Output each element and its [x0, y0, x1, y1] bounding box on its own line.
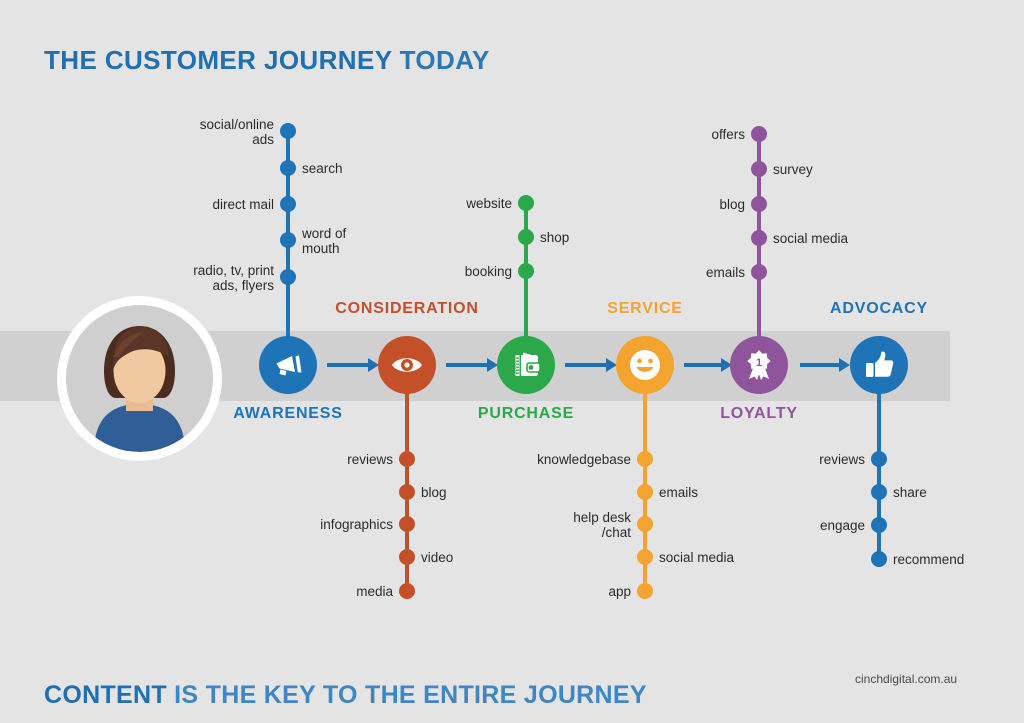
svg-text:1: 1: [756, 357, 762, 369]
wallet-icon: [510, 349, 542, 381]
touchpoint-label-service-2: help desk /chat: [573, 510, 631, 540]
touchpoint-label-service-1: emails: [659, 485, 698, 500]
touchpoint-label-advocacy-1: share: [893, 485, 927, 500]
smiley-icon: [628, 348, 662, 382]
arrow-consideration-purchase: [446, 358, 498, 372]
avatar-disc: [66, 305, 213, 452]
touchpoint-node-loyalty-3[interactable]: [751, 230, 767, 246]
touchpoint-label-loyalty-3: social media: [773, 231, 848, 246]
touchpoint-node-loyalty-0[interactable]: [751, 126, 767, 142]
page-title-rest: TODAY: [392, 45, 490, 75]
megaphone-icon: [271, 348, 305, 382]
arrow-shaft: [800, 363, 840, 367]
touchpoint-node-consideration-2[interactable]: [399, 516, 415, 532]
touchpoint-label-loyalty-1: survey: [773, 162, 813, 177]
stage-label-loyalty: LOYALTY: [720, 405, 798, 423]
arrow-shaft: [327, 363, 369, 367]
touchpoint-node-advocacy-2[interactable]: [871, 517, 887, 533]
avatar-illustration: [66, 305, 213, 452]
page-title: THE CUSTOMER JOURNEY TODAY: [44, 45, 490, 76]
footer-title-rest: IS THE KEY TO THE ENTIRE JOURNEY: [167, 681, 647, 709]
touchpoint-label-loyalty-2: blog: [719, 197, 745, 212]
stage-icon-circle-purchase[interactable]: [497, 336, 555, 394]
touchpoint-node-service-2[interactable]: [637, 516, 653, 532]
touchpoint-node-service-4[interactable]: [637, 583, 653, 599]
touchpoint-node-service-1[interactable]: [637, 484, 653, 500]
touchpoint-label-service-4: app: [608, 584, 631, 599]
touchpoint-label-loyalty-0: offers: [711, 127, 745, 142]
touchpoint-label-purchase-2: booking: [465, 264, 512, 279]
touchpoint-node-loyalty-1[interactable]: [751, 161, 767, 177]
touchpoint-node-advocacy-3[interactable]: [871, 551, 887, 567]
thumbs-up-icon: [862, 348, 896, 382]
touchpoint-label-awareness-0: social/online ads: [200, 117, 274, 147]
arrow-shaft: [684, 363, 722, 367]
touchpoint-node-advocacy-0[interactable]: [871, 451, 887, 467]
touchpoint-node-service-0[interactable]: [637, 451, 653, 467]
touchpoint-node-service-3[interactable]: [637, 549, 653, 565]
touchpoint-node-awareness-2[interactable]: [280, 196, 296, 212]
touchpoint-label-advocacy-2: engage: [820, 518, 865, 533]
arrow-service-loyalty: [684, 358, 732, 372]
touchpoint-label-consideration-2: infographics: [320, 517, 393, 532]
touchpoint-label-awareness-1: search: [302, 161, 343, 176]
stage-label-service: SERVICE: [607, 300, 683, 318]
award-ribbon-icon: 1: [742, 348, 776, 382]
arrow-shaft: [565, 363, 607, 367]
arrow-shaft: [446, 363, 488, 367]
touchpoint-label-consideration-0: reviews: [347, 452, 393, 467]
stage-label-consideration: CONSIDERATION: [335, 300, 478, 318]
touchpoint-label-service-0: knowledgebase: [537, 452, 631, 467]
touchpoint-node-purchase-1[interactable]: [518, 229, 534, 245]
touchpoint-label-awareness-3: word of mouth: [302, 226, 346, 256]
touchpoint-label-advocacy-0: reviews: [819, 452, 865, 467]
touchpoint-label-loyalty-4: emails: [706, 265, 745, 280]
touchpoint-label-advocacy-3: recommend: [893, 552, 964, 567]
stage-label-awareness: AWARENESS: [233, 405, 342, 423]
touchpoint-label-awareness-4: radio, tv, print ads, flyers: [193, 263, 274, 293]
arrow-loyalty-advocacy: [800, 358, 850, 372]
touchpoint-label-purchase-1: shop: [540, 230, 569, 245]
infographic-canvas: THE CUSTOMER JOURNEY TODAY social/online…: [0, 0, 1024, 723]
touchpoint-node-purchase-0[interactable]: [518, 195, 534, 211]
attribution: cinchdigital.com.au: [855, 672, 957, 686]
stage-icon-circle-service[interactable]: [616, 336, 674, 394]
stage-icon-circle-awareness[interactable]: [259, 336, 317, 394]
touchpoint-label-consideration-4: media: [356, 584, 393, 599]
arrow-purchase-service: [565, 358, 617, 372]
footer-title-strong: CONTENT: [44, 681, 167, 709]
page-title-strong: THE CUSTOMER JOURNEY: [44, 45, 392, 75]
touchpoint-node-loyalty-2[interactable]: [751, 196, 767, 212]
touchpoint-node-consideration-0[interactable]: [399, 451, 415, 467]
stage-icon-circle-consideration[interactable]: [378, 336, 436, 394]
eye-icon: [390, 348, 424, 382]
touchpoint-label-consideration-1: blog: [421, 485, 447, 500]
stage-label-purchase: PURCHASE: [478, 405, 574, 423]
footer-title: CONTENT IS THE KEY TO THE ENTIRE JOURNEY: [44, 681, 647, 710]
touchpoint-label-purchase-0: website: [466, 196, 512, 211]
touchpoint-label-awareness-2: direct mail: [212, 197, 274, 212]
touchpoint-node-awareness-4[interactable]: [280, 269, 296, 285]
touchpoint-node-consideration-1[interactable]: [399, 484, 415, 500]
stage-icon-circle-loyalty[interactable]: 1: [730, 336, 788, 394]
touchpoint-node-consideration-3[interactable]: [399, 549, 415, 565]
touchpoint-node-consideration-4[interactable]: [399, 583, 415, 599]
stage-label-advocacy: ADVOCACY: [830, 300, 928, 318]
arrow-head: [839, 358, 850, 372]
touchpoint-node-awareness-1[interactable]: [280, 160, 296, 176]
touchpoint-label-service-3: social media: [659, 550, 734, 565]
touchpoint-node-awareness-0[interactable]: [280, 123, 296, 139]
touchpoint-node-advocacy-1[interactable]: [871, 484, 887, 500]
touchpoint-node-loyalty-4[interactable]: [751, 264, 767, 280]
touchpoint-node-awareness-3[interactable]: [280, 232, 296, 248]
customer-avatar: [57, 296, 222, 461]
touchpoint-label-consideration-3: video: [421, 550, 453, 565]
touchpoint-node-purchase-2[interactable]: [518, 263, 534, 279]
stage-icon-circle-advocacy[interactable]: [850, 336, 908, 394]
arrow-awareness-consideration: [327, 358, 379, 372]
